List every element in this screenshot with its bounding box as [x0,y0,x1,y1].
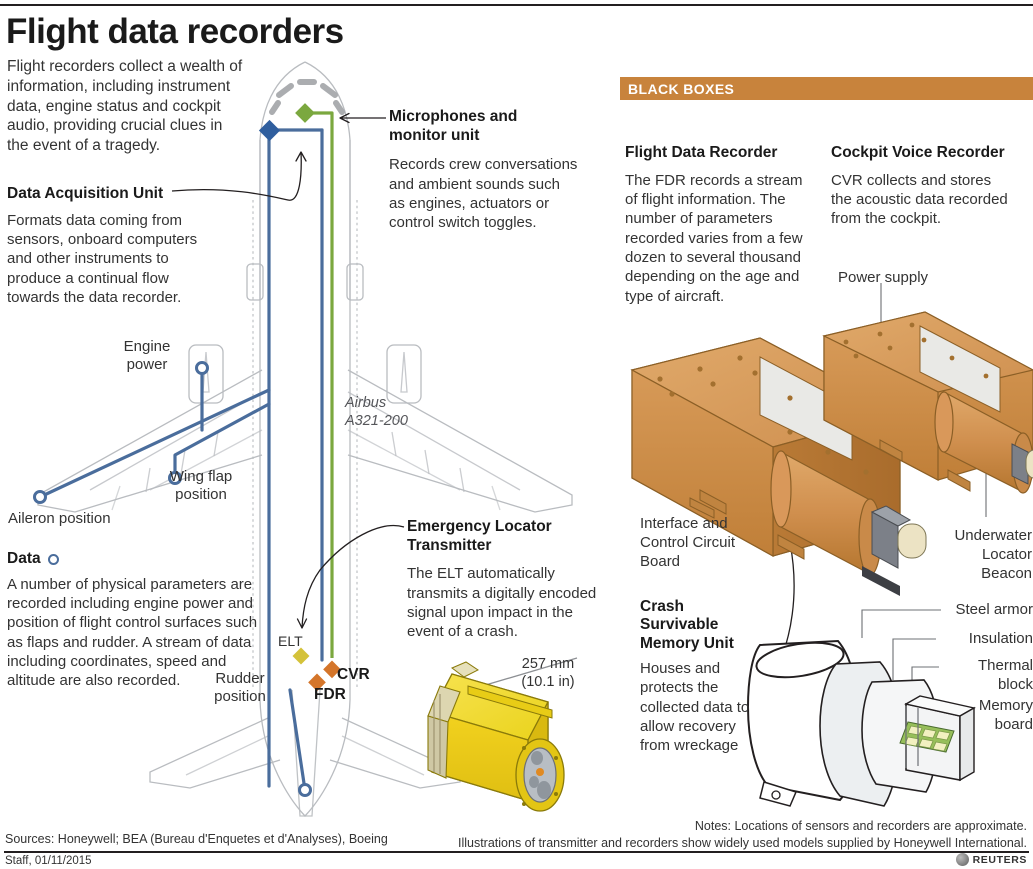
label-line-1: Engine [124,338,171,355]
callout-heading: Cockpit Voice Recorder [831,144,1011,163]
cockpit-detail [272,82,342,112]
aileron-node [35,492,46,503]
label-thermal-block: Thermal block [947,657,1033,695]
label-line-1: Rudder [215,670,264,687]
label-memory-board: Memory board [949,697,1033,735]
steel-armor-leader [862,610,941,638]
callout-heading: Flight Data Recorder [625,144,811,163]
dimension-mm: 257 mm [522,656,574,672]
footer-sources: Sources: Honeywell; BEA (Bureau d'Enquet… [5,832,388,846]
rudder-node [300,785,311,796]
callout-heading: Data [7,550,41,569]
top-rule [0,4,1033,6]
label-engine-power: Engine power [108,338,186,374]
callout-emergency-locator-transmitter: Emergency Locator Transmitter The ELT au… [407,518,597,642]
label-line-1: Wing flap [170,468,233,485]
black-boxes-section-bar: BLACK BOXES [620,77,1033,100]
microphone-marker [295,103,315,123]
dimension-in: (10.1 in) [521,674,574,690]
footer-notes: Notes: Locations of sensors and recorder… [417,818,1027,851]
fdr-cylinder [771,451,881,575]
label-power-supply: Power supply [838,269,928,288]
label-aileron-position: Aileron position [8,510,153,528]
callout-crash-survivable-memory-unit: Crash Survivable Memory Unit Houses and … [640,598,752,756]
engine-power-node [197,363,208,374]
label-rudder-position: Rudder position [199,670,281,706]
label-fdr-marker: FDR [314,686,346,704]
daq-marker [259,120,280,141]
thermal-block-leader [912,667,939,700]
data-heading-row: Data [7,550,267,569]
page-title: Flight data recorders [6,14,344,51]
csmu-leader [778,543,794,665]
label-line-2: position [214,688,266,705]
notes-line-2: Illustrations of transmitter and recorde… [417,835,1027,852]
label-steel-armor: Steel armor [949,601,1033,620]
callout-heading: Emergency Locator Transmitter [407,518,597,555]
insulation-leader [893,639,936,680]
label-insulation: Insulation [944,630,1033,649]
callout-microphones-monitor-unit: Microphones and monitor unit Records cre… [389,108,579,233]
fdr-ulb [862,506,926,596]
cvr-cylinder [935,392,1033,493]
elt-leader [302,526,404,628]
label-cvr-marker: CVR [337,666,370,684]
model-line-1: Airbus [345,395,386,411]
callout-data-acquisition-unit: Data Acquisition Unit Formats data comin… [7,185,219,307]
marker-diamonds [259,103,341,691]
callout-body: The FDR records a stream of flight infor… [625,171,811,306]
intro-paragraph: Flight recorders collect a wealth of inf… [7,57,243,156]
reuters-logo: REUTERS [956,853,1027,866]
label-underwater-locator-beacon: Underwater Locator Beacon [946,527,1032,583]
memory-board-leader [928,706,941,718]
footer-credit: Staff, 01/11/2015 [5,855,92,867]
label-wing-flap-position: Wing flap position [157,468,245,504]
label-elt-marker: ELT [278,633,314,650]
callout-flight-data-recorder: Flight Data Recorder The FDR records a s… [625,144,811,306]
memory-board [900,722,954,752]
callout-heading: Microphones and monitor unit [389,108,579,145]
label-line-2: position [175,486,227,503]
callout-heading: Crash Survivable Memory Unit [640,598,752,653]
csmu-illustration [748,637,974,806]
callout-body: Formats data coming from sensors, onboar… [7,211,219,308]
reuters-wordmark: REUTERS [973,854,1027,866]
notes-line-1: Notes: Locations of sensors and recorder… [417,818,1027,835]
callout-body: The ELT automatically transmits a digita… [407,564,597,641]
callout-body: Records crew conversations and ambient s… [389,155,579,232]
callout-body: Houses and protects the collected data t… [640,659,752,756]
cvr-recorder-illustration [824,312,1033,493]
callout-heading: Data Acquisition Unit [7,185,219,204]
callout-body: CVR collects and stores the acoustic dat… [831,171,1011,229]
callout-cockpit-voice-recorder: Cockpit Voice Recorder CVR collects and … [831,144,1011,229]
label-elt-dimension: 257 mm (10.1 in) [505,655,591,691]
model-line-2: A321-200 [345,413,408,429]
reuters-globe-icon [956,853,969,866]
label-interface-control-circuit-board: Interface and Control Circuit Board [640,515,748,571]
infographic-page: Flight data recorders Flight recorders c… [0,0,1033,869]
black-boxes-title: BLACK BOXES [628,81,734,97]
cvr-ulb [1012,444,1033,484]
csmu-internal-lines [906,706,918,768]
data-node-icon [48,554,59,565]
label-aircraft-model: Airbus A321-200 [345,394,425,430]
label-line-2: power [127,356,168,373]
footer-rule [4,851,1029,853]
audio-path-green [305,113,332,658]
elt-marker [293,648,310,665]
